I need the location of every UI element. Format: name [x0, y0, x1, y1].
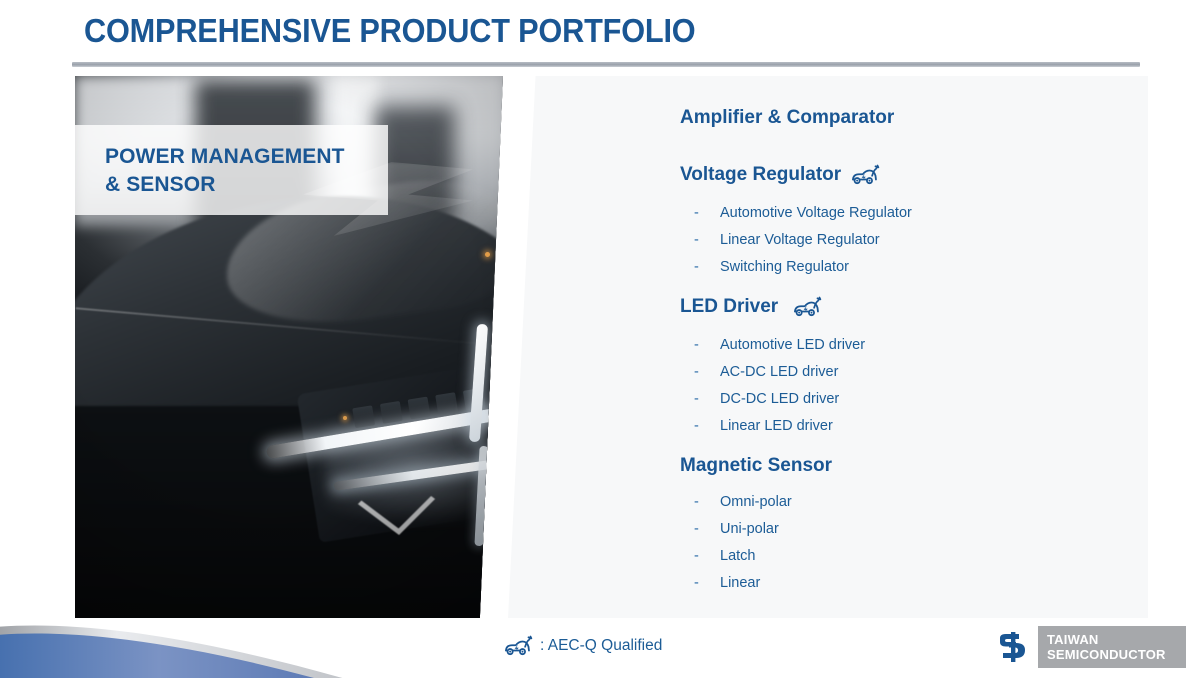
list-item: -Automotive LED driver: [694, 338, 865, 365]
list-item: -AC-DC LED driver: [694, 365, 865, 392]
bullet-dash: -: [694, 260, 720, 275]
logo-line1: TAIWAN: [1047, 632, 1186, 647]
page-title: COMPREHENSIVE PRODUCT PORTFOLIO: [84, 12, 695, 50]
section-heading-voltage-regulator: Voltage Regulator: [680, 163, 880, 187]
bullet-dash: -: [694, 495, 720, 510]
footer-swoosh: [0, 600, 390, 678]
list-item-label: Linear LED driver: [720, 419, 833, 434]
overlay-label-line2: & SENSOR: [105, 171, 405, 199]
bullet-dash: -: [694, 392, 720, 407]
list-item-label: Automotive Voltage Regulator: [720, 206, 912, 221]
bullet-dash: -: [694, 338, 720, 353]
title-divider: [72, 62, 1140, 67]
overlay-label: POWER MANAGEMENT & SENSOR: [105, 143, 405, 198]
overlay-label-line1: POWER MANAGEMENT: [105, 143, 405, 171]
list-item-label: DC-DC LED driver: [720, 392, 839, 407]
logo-wordmark: TAIWAN SEMICONDUCTOR: [1038, 626, 1186, 668]
bullet-dash: -: [694, 522, 720, 537]
list-item: -Switching Regulator: [694, 260, 912, 287]
company-logo: TAIWAN SEMICONDUCTOR: [990, 626, 1186, 668]
section-heading-magnetic-sensor: Magnetic Sensor: [680, 455, 832, 477]
item-list-voltage-regulator: -Automotive Voltage Regulator -Linear Vo…: [694, 206, 912, 287]
list-item: -Uni-polar: [694, 522, 792, 549]
ev-car-icon: [792, 295, 822, 319]
list-item: -Linear: [694, 576, 792, 603]
logo-line2: SEMICONDUCTOR: [1047, 647, 1186, 662]
list-item: -Linear LED driver: [694, 419, 865, 446]
logo-monogram-icon: [990, 626, 1038, 668]
section-heading-label: Amplifier & Comparator: [680, 107, 894, 129]
list-item: -Omni-polar: [694, 495, 792, 522]
list-item-label: Omni-polar: [720, 495, 792, 510]
slide: COMPREHENSIVE PRODUCT PORTFOLIO POWER MA…: [0, 0, 1200, 678]
product-list: Amplifier & Comparator Voltage Regulator: [680, 76, 1150, 618]
ev-car-icon: [850, 163, 880, 187]
section-heading-amplifier-comparator: Amplifier & Comparator: [680, 107, 894, 129]
bullet-dash: -: [694, 365, 720, 380]
list-item: -Latch: [694, 549, 792, 576]
ev-car-icon: [503, 634, 533, 658]
list-item-label: Automotive LED driver: [720, 338, 865, 353]
legend-label: : AEC-Q Qualified: [540, 637, 662, 655]
item-list-magnetic-sensor: -Omni-polar -Uni-polar -Latch -Linear: [694, 495, 792, 603]
item-list-led-driver: -Automotive LED driver -AC-DC LED driver…: [694, 338, 865, 446]
bullet-dash: -: [694, 206, 720, 221]
section-heading-label: Voltage Regulator: [680, 164, 841, 186]
bullet-dash: -: [694, 233, 720, 248]
list-item-label: Linear Voltage Regulator: [720, 233, 880, 248]
list-item-label: Latch: [720, 549, 755, 564]
footer-legend: : AEC-Q Qualified: [503, 634, 662, 658]
list-item-label: Switching Regulator: [720, 260, 849, 275]
list-item: -Linear Voltage Regulator: [694, 233, 912, 260]
bullet-dash: -: [694, 549, 720, 564]
list-item: -Automotive Voltage Regulator: [694, 206, 912, 233]
list-item-label: AC-DC LED driver: [720, 365, 838, 380]
section-heading-label: LED Driver: [680, 296, 778, 318]
list-item-label: Linear: [720, 576, 760, 591]
bullet-dash: -: [694, 576, 720, 591]
section-heading-label: Magnetic Sensor: [680, 455, 832, 477]
bullet-dash: -: [694, 419, 720, 434]
list-item: -DC-DC LED driver: [694, 392, 865, 419]
list-item-label: Uni-polar: [720, 522, 779, 537]
section-heading-led-driver: LED Driver: [680, 295, 822, 319]
